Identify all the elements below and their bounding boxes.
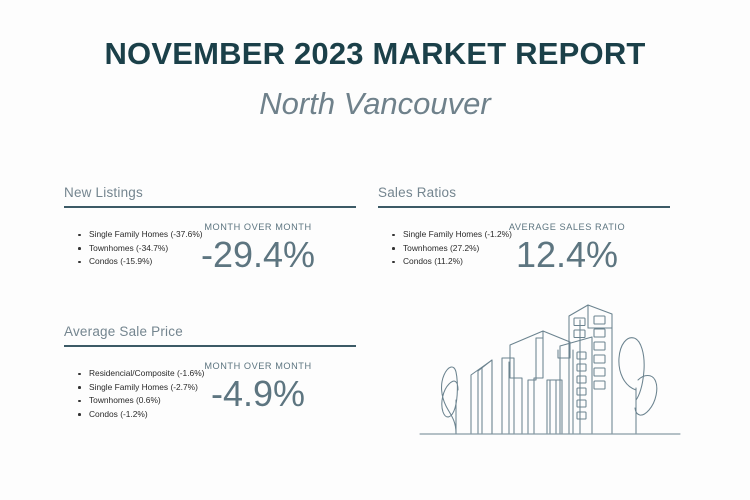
metric-label: MONTH OVER MONTH [168,361,348,371]
page-subtitle: North Vancouver [0,86,750,122]
building-tallest-tower [569,305,612,433]
city-skyline-svg [410,280,690,460]
window [577,376,586,383]
section-average-sale-price: Average Sale Price Residencial/Composite… [56,324,348,441]
section-divider [64,206,356,208]
section-new-listings: New Listings Single Family Homes (-37.6%… [56,185,348,302]
page-title: NOVEMBER 2023 MARKET REPORT [0,36,750,72]
metric-value: 12.4% [472,233,662,277]
tree-left [442,367,458,433]
section-body: Residencial/Composite (-1.6%) Single Fam… [56,361,348,441]
headline-metric: AVERAGE SALES RATIO 12.4% [472,222,662,277]
metric-value: -4.9% [168,372,348,416]
metric-label: MONTH OVER MONTH [168,222,348,232]
window [577,400,586,407]
building-notched-twin [510,331,570,433]
section-heading-sales-ratios: Sales Ratios [370,185,662,200]
tree-right [619,338,657,433]
section-heading-new-listings: New Listings [56,185,348,200]
window [594,316,605,324]
window [594,329,605,337]
window [594,355,605,363]
window [577,364,586,371]
window [577,412,586,419]
section-body: Single Family Homes (-37.6%) Townhomes (… [56,222,348,302]
headline-metric: MONTH OVER MONTH -4.9% [168,361,348,416]
window [594,381,605,389]
section-divider [378,206,670,208]
metric-value: -29.4% [168,233,348,277]
window [594,342,605,350]
section-divider [64,345,356,347]
window [594,368,605,376]
section-heading-average-sale-price: Average Sale Price [56,324,348,339]
building-slab [502,358,514,433]
window [577,352,586,359]
window [577,388,586,395]
headline-metric: MONTH OVER MONTH -29.4% [168,222,348,277]
city-skyline-icon [410,280,690,460]
building-angled-tower [471,360,492,433]
metric-label: AVERAGE SALES RATIO [472,222,662,232]
